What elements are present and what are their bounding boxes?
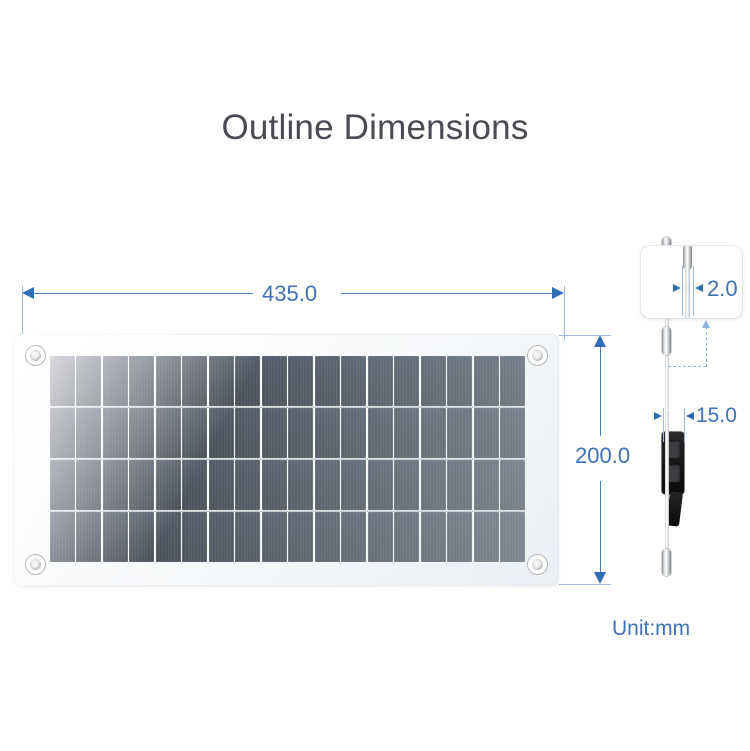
solar-cell (103, 408, 128, 458)
magnified-detail-callout: 2.0 (641, 246, 742, 318)
height-dimension-label: 200.0 (575, 443, 630, 469)
grommet-top-right (528, 346, 547, 365)
solar-cell (315, 356, 340, 406)
solar-cell (76, 356, 101, 406)
callout-leader-arrow-icon (702, 320, 710, 328)
unit-label: Unit:mm (612, 617, 690, 641)
solar-cell (129, 356, 154, 406)
solar-cell (129, 408, 154, 458)
solar-cell (235, 408, 260, 458)
width-dimension-label: 435.0 (262, 281, 317, 307)
solar-cell (262, 408, 287, 458)
callout-extension-line-right (693, 266, 694, 316)
solar-cell (421, 460, 446, 510)
callout-arrow-right-icon (673, 284, 681, 292)
solar-cell (182, 356, 207, 406)
solar-cell (262, 512, 287, 562)
solar-cell (209, 408, 234, 458)
solar-cell (421, 512, 446, 562)
width-dimension-line-right (341, 293, 552, 294)
solar-cell (156, 356, 181, 406)
solar-cell (182, 408, 207, 458)
solar-cell (341, 460, 366, 510)
width-arrow-right-icon (552, 287, 564, 299)
width-arrow-left-icon (22, 287, 34, 299)
solar-cell (394, 512, 419, 562)
height-dimension-line-bottom (600, 481, 601, 572)
page-title: Outline Dimensions (0, 108, 750, 148)
callout-arrow-left-icon (695, 284, 703, 292)
cable-ferrule-mid (662, 327, 671, 355)
solar-cell (341, 356, 366, 406)
solar-cell (103, 356, 128, 406)
solar-cell (474, 408, 499, 458)
grommet-bottom-left (26, 555, 45, 574)
solar-cell (76, 512, 101, 562)
solar-cell (474, 356, 499, 406)
solar-cell (394, 408, 419, 458)
callout-extension-line-left (682, 266, 683, 316)
busbar-ribbon (50, 510, 525, 512)
solar-cell (421, 356, 446, 406)
solar-cell (500, 460, 525, 510)
height-arrow-up-icon (594, 335, 606, 347)
solar-cell (447, 512, 472, 562)
solar-cell (368, 460, 393, 510)
solar-cell (341, 408, 366, 458)
busbar-ribbon (50, 406, 525, 408)
solar-cell (315, 408, 340, 458)
solar-panel (14, 334, 559, 586)
solar-cell (235, 460, 260, 510)
solar-cell (50, 512, 75, 562)
diagram-canvas: Outline Dimensions 435.0 200.0 (0, 0, 750, 751)
solar-cell (447, 356, 472, 406)
solar-cell (76, 408, 101, 458)
jbox-dimension-label: 15.0 (696, 404, 737, 428)
solar-cell (288, 512, 313, 562)
solar-cell (209, 460, 234, 510)
solar-cell (129, 460, 154, 510)
solar-cell (76, 460, 101, 510)
width-dimension-line-left (34, 293, 253, 294)
solar-cell (103, 512, 128, 562)
solar-cell (288, 408, 313, 458)
jbox-arrow-right-icon (654, 412, 662, 420)
solar-cell (182, 512, 207, 562)
solar-cell (368, 356, 393, 406)
jbox-extension-line-right (684, 408, 685, 442)
solar-cell (50, 408, 75, 458)
solar-cell (368, 512, 393, 562)
solar-cell (209, 512, 234, 562)
solar-cell (209, 356, 234, 406)
solar-cell (50, 356, 75, 406)
grommet-bottom-right (528, 555, 547, 574)
solar-cell (394, 356, 419, 406)
solar-cell (474, 460, 499, 510)
height-extension-line-bottom (559, 584, 611, 585)
solar-cell (156, 512, 181, 562)
busbar-ribbon (50, 458, 525, 460)
jbox-extension-line-left (663, 408, 664, 442)
solar-cell (315, 460, 340, 510)
solar-cell (447, 460, 472, 510)
solar-cell (394, 460, 419, 510)
solar-cell (103, 460, 128, 510)
solar-cell (50, 460, 75, 510)
solar-cell (235, 356, 260, 406)
solar-cell (500, 512, 525, 562)
solar-cell (156, 408, 181, 458)
solar-cell (315, 512, 340, 562)
solar-cell (474, 512, 499, 562)
solar-cell (288, 356, 313, 406)
solar-cell (421, 408, 446, 458)
solar-cell (156, 460, 181, 510)
cable-thickness-label: 2.0 (707, 276, 738, 302)
height-dimension-line-top (600, 347, 601, 436)
solar-cell (341, 512, 366, 562)
jbox-arrow-left-icon (686, 412, 694, 420)
solar-cell (129, 512, 154, 562)
solar-cell (288, 460, 313, 510)
solar-cell (262, 356, 287, 406)
height-arrow-down-icon (594, 572, 606, 584)
callout-leader-vertical (706, 327, 707, 367)
width-extension-line-right (564, 286, 565, 341)
solar-cell (500, 356, 525, 406)
cable-ferrule-bottom (662, 549, 671, 576)
callout-leader-horizontal (668, 366, 706, 367)
solar-cell (182, 460, 207, 510)
grommet-top-left (26, 346, 45, 365)
solar-cell (447, 408, 472, 458)
solar-cell (235, 512, 260, 562)
callout-ferrule (683, 246, 692, 270)
solar-cell (368, 408, 393, 458)
solar-cell (500, 408, 525, 458)
solar-cell (262, 460, 287, 510)
